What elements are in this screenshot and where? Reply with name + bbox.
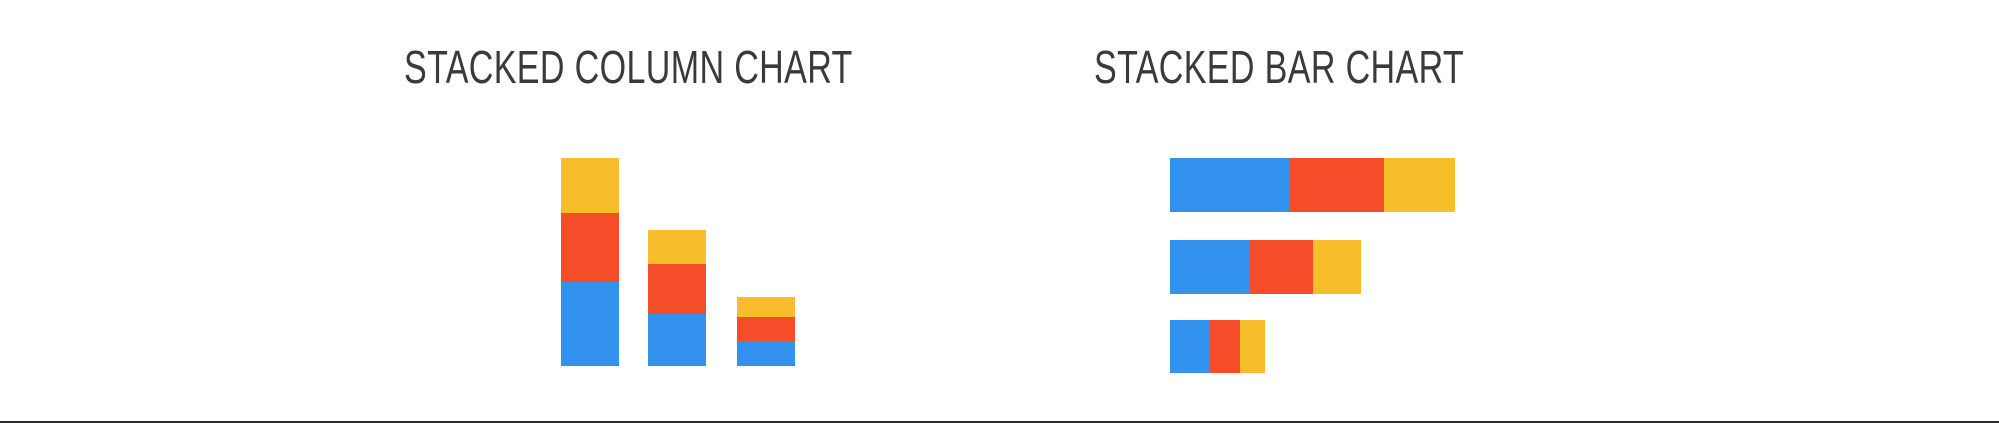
bar-stack-1[interactable] <box>1170 158 1455 212</box>
stacked-bar-chart-panel: STACKED BAR CHART <box>1000 0 1999 431</box>
bar-stack-3[interactable] <box>1170 320 1265 373</box>
column-3-segment-series-1[interactable] <box>737 341 795 366</box>
chart-canvas: STACKED COLUMN CHART STACK <box>0 0 1999 431</box>
column-2-segment-series-1[interactable] <box>648 314 706 366</box>
column-3-segment-series-2[interactable] <box>737 317 795 341</box>
bar-1-segment-series-3[interactable] <box>1384 158 1455 212</box>
bar-2-segment-series-2[interactable] <box>1250 240 1313 294</box>
column-1-segment-series-3[interactable] <box>561 158 619 213</box>
bar-3-segment-series-1[interactable] <box>1170 320 1210 373</box>
bar-1-segment-series-2[interactable] <box>1289 158 1384 212</box>
column-3-segment-series-3[interactable] <box>737 297 795 317</box>
column-stack-1[interactable] <box>561 158 619 366</box>
column-1-segment-series-2[interactable] <box>561 213 619 282</box>
bar-1-segment-series-1[interactable] <box>1170 158 1289 212</box>
column-stack-3[interactable] <box>737 297 795 366</box>
bar-3-segment-series-3[interactable] <box>1240 320 1265 373</box>
bar-2-segment-series-1[interactable] <box>1170 240 1250 294</box>
bar-3-segment-series-2[interactable] <box>1210 320 1240 373</box>
column-2-segment-series-2[interactable] <box>648 264 706 314</box>
bar-stack-2[interactable] <box>1170 240 1361 294</box>
column-1-segment-series-1[interactable] <box>561 282 619 366</box>
column-stack-2[interactable] <box>648 230 706 366</box>
bottom-divider-rule <box>0 421 1999 423</box>
stacked-bar-plot-area <box>1000 0 1999 431</box>
bar-2-segment-series-3[interactable] <box>1313 240 1361 294</box>
stacked-column-plot-area <box>0 0 1000 431</box>
column-2-segment-series-3[interactable] <box>648 230 706 264</box>
stacked-column-chart-panel: STACKED COLUMN CHART <box>0 0 1000 431</box>
